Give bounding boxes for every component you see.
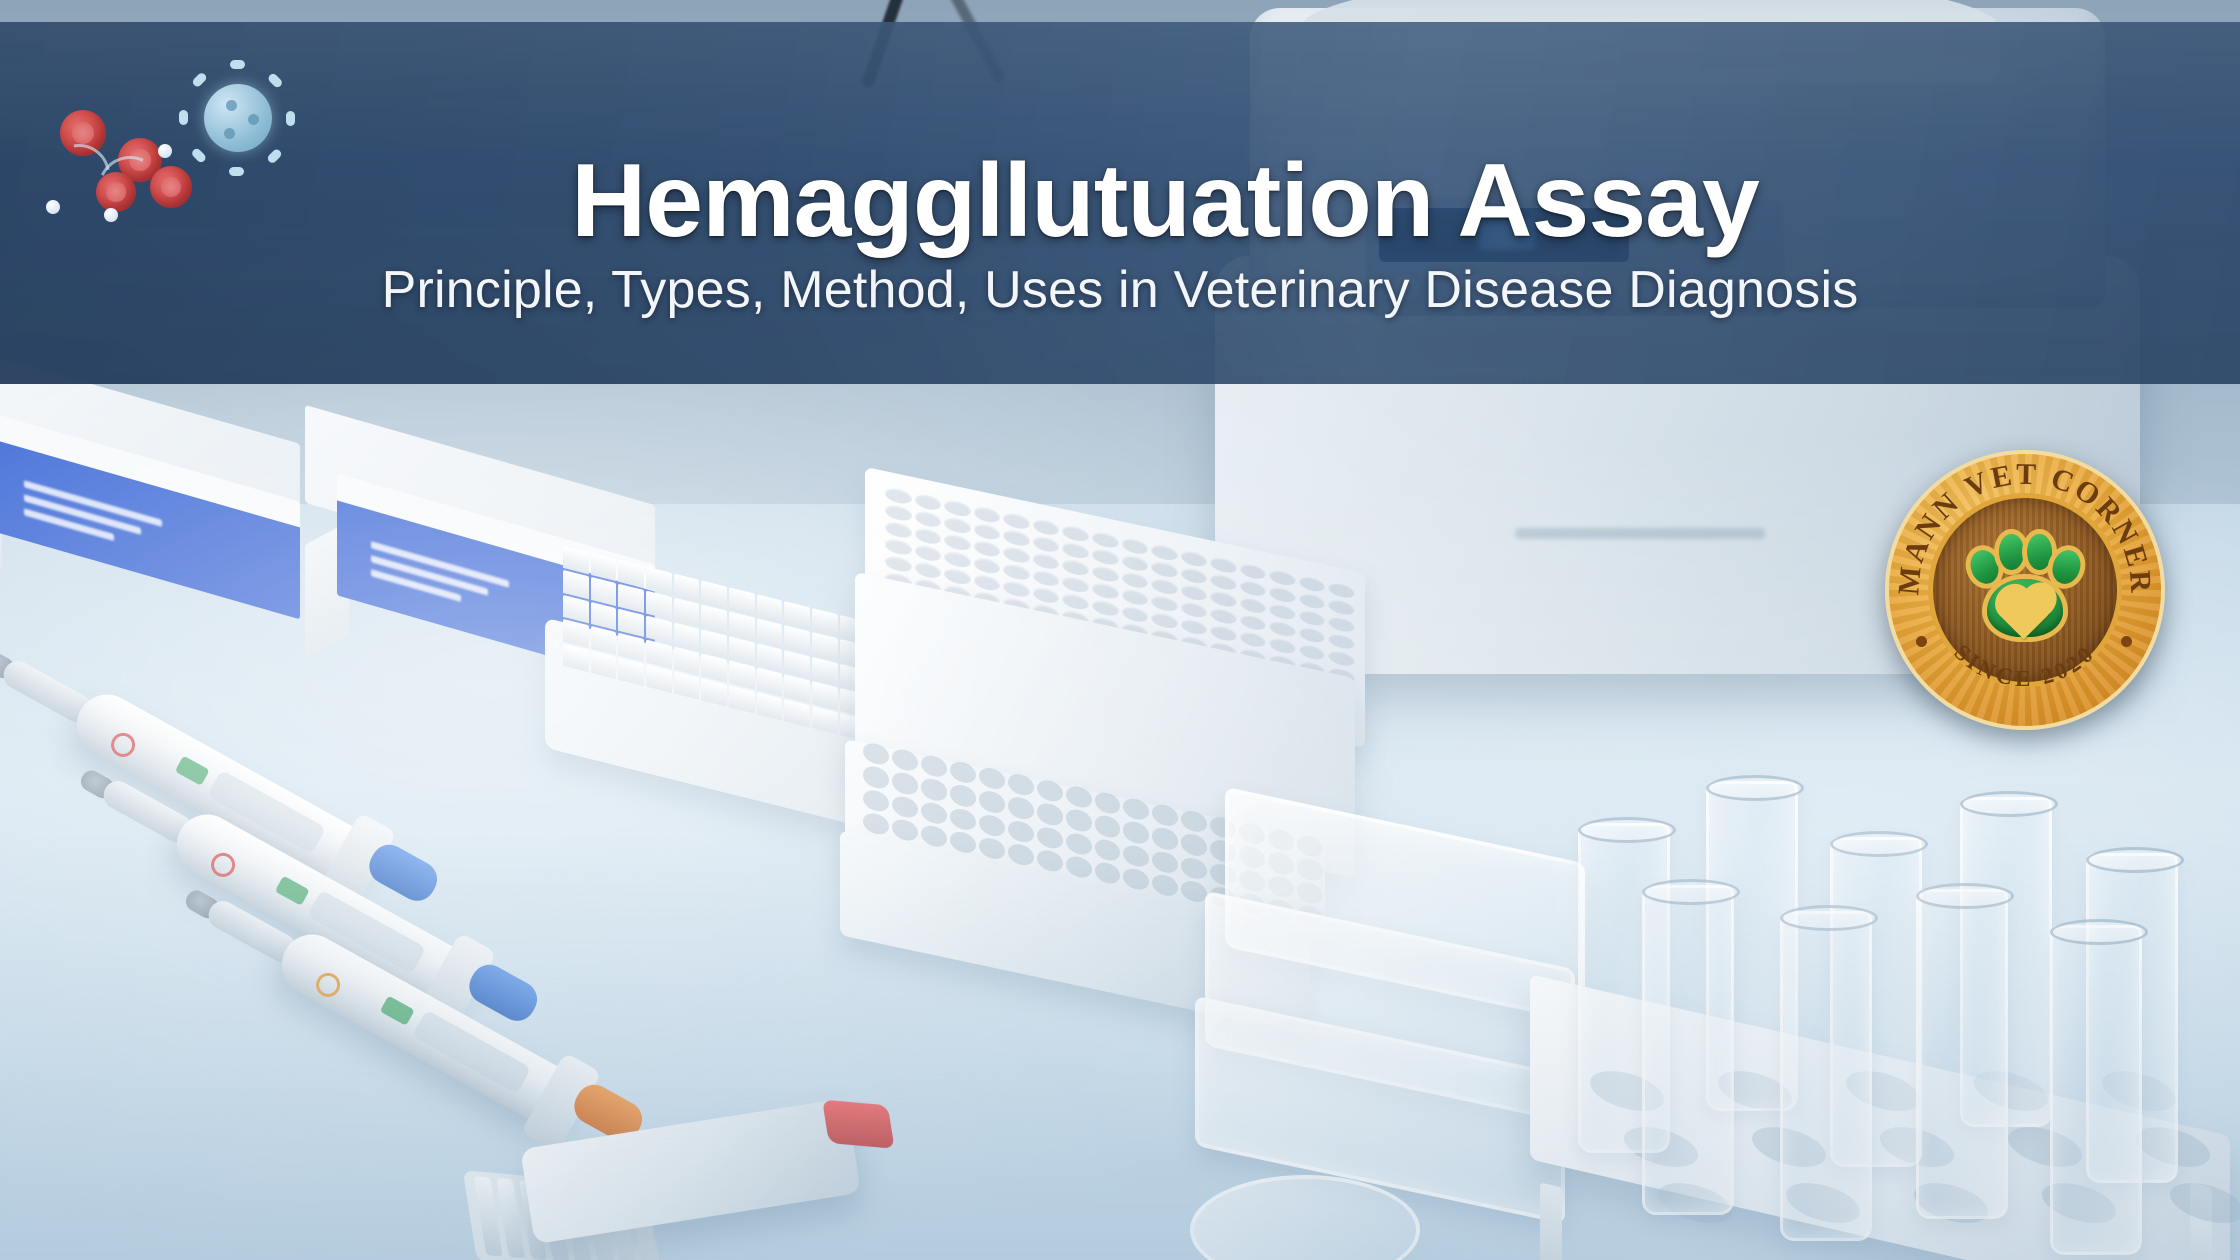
mann-vet-corner-badge[interactable]: MANN VET CORNER SINCE 2020 [1885,450,2165,730]
paw-toe [1967,546,2003,586]
paw-toe [2027,534,2052,570]
virus-spike [286,111,295,126]
virus-spike [230,60,245,69]
virus-surface-dot [226,100,237,111]
foreground-shade [0,832,2240,1260]
paw-print-icon [1969,534,2081,646]
badge-separator-dot-left [1916,636,1927,647]
title-band: Hemaggllutuation Assay Principle, Types,… [0,22,2240,384]
article-banner: Hemaggllutuation Assay Principle, Types,… [0,0,2240,1260]
page-subtitle: Principle, Types, Method, Uses in Veteri… [0,260,2240,320]
paw-toe [2048,546,2084,586]
svg-text:SINCE 2020: SINCE 2020 [1949,639,2100,691]
virus-surface-dot [224,128,235,139]
virus-spike [267,72,284,89]
paw-toe [1999,534,2024,570]
virus-spike [179,110,188,125]
badge-separator-dot-right [2121,636,2132,647]
virus-spike [191,71,208,88]
virus-surface-dot [248,114,259,125]
page-title: Hemaggllutuation Assay [0,142,2240,261]
